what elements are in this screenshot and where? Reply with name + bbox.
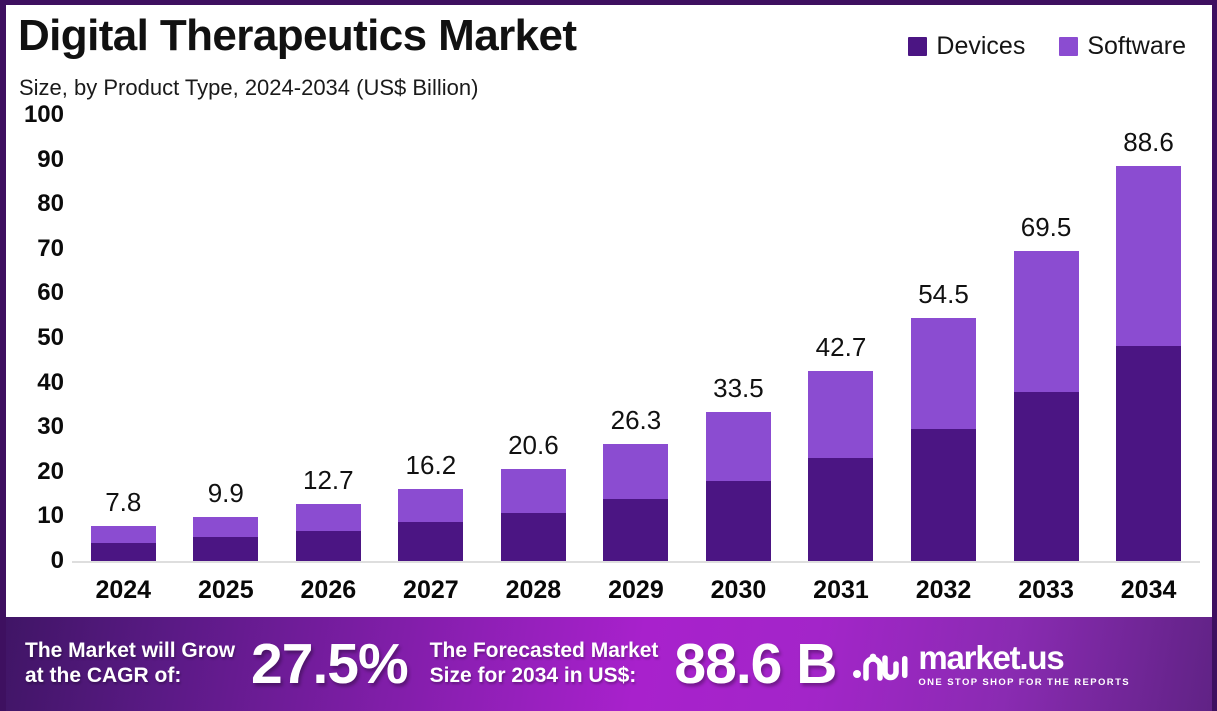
- bar-value-label: 20.6: [482, 430, 584, 461]
- chart-legend: Devices Software: [908, 32, 1186, 61]
- x-axis-tick: 2029: [585, 576, 687, 605]
- x-axis-tick: 2028: [482, 576, 584, 605]
- bar-stack[interactable]: [398, 489, 463, 561]
- bar-stack[interactable]: [1116, 166, 1181, 561]
- x-axis-tick: 2025: [175, 576, 277, 605]
- x-axis-baseline: [72, 561, 1200, 563]
- bar-segment-software[interactable]: [296, 504, 361, 530]
- bar-column[interactable]: 42.7: [790, 115, 892, 561]
- bar-value-label: 42.7: [790, 332, 892, 363]
- chart-plot-area: 1009080706050403020100 7.89.912.716.220.…: [6, 115, 1217, 622]
- bar-segment-software[interactable]: [603, 444, 668, 499]
- market-us-logo-mark-icon: [852, 644, 912, 684]
- bar-segment-devices[interactable]: [91, 543, 156, 561]
- y-axis: 1009080706050403020100: [6, 115, 72, 561]
- bar-segment-software[interactable]: [398, 489, 463, 522]
- y-axis-tick: 30: [37, 413, 64, 441]
- bar-column[interactable]: 54.5: [893, 115, 995, 561]
- bar-value-label: 16.2: [380, 450, 482, 481]
- bar-segment-devices[interactable]: [1014, 392, 1079, 561]
- infographic-root: Digital Therapeutics Market Size, by Pro…: [0, 0, 1217, 711]
- bar-stack[interactable]: [808, 371, 873, 561]
- legend-item-devices[interactable]: Devices: [908, 32, 1025, 61]
- chart-header: Digital Therapeutics Market Size, by Pro…: [6, 5, 1212, 115]
- bar-stack[interactable]: [911, 318, 976, 561]
- bar-segment-devices[interactable]: [501, 513, 566, 561]
- bar-segment-software[interactable]: [1014, 251, 1079, 392]
- bar-value-label: 9.9: [175, 478, 277, 509]
- bar-segment-software[interactable]: [706, 412, 771, 481]
- bar-segment-devices[interactable]: [706, 481, 771, 561]
- y-axis-tick: 20: [37, 458, 64, 486]
- footer-banner: The Market will Grow at the CAGR of: 27.…: [6, 617, 1217, 711]
- page-title: Digital Therapeutics Market: [18, 11, 576, 61]
- bar-column[interactable]: 88.6: [1098, 115, 1200, 561]
- y-axis-tick: 40: [37, 369, 64, 397]
- logo-wordmark: market.us: [918, 641, 1130, 674]
- bar-value-label: 26.3: [585, 405, 687, 436]
- forecast-value: 88.6 B: [674, 631, 836, 697]
- bar-stack[interactable]: [501, 469, 566, 561]
- legend-label-devices: Devices: [936, 32, 1025, 61]
- bar-value-label: 12.7: [277, 465, 379, 496]
- bar-column[interactable]: 16.2: [380, 115, 482, 561]
- y-axis-tick: 80: [37, 190, 64, 218]
- cagr-value: 27.5%: [251, 631, 408, 697]
- market-us-logo-text: market.us ONE STOP SHOP FOR THE REPORTS: [918, 641, 1130, 688]
- bar-column[interactable]: 69.5: [995, 115, 1097, 561]
- bar-column[interactable]: 12.7: [277, 115, 379, 561]
- bar-segment-software[interactable]: [501, 469, 566, 513]
- bar-segment-software[interactable]: [1116, 166, 1181, 346]
- bar-stack[interactable]: [603, 444, 668, 561]
- forecast-block: The Forecasted Market Size for 2034 in U…: [430, 631, 837, 697]
- bar-segment-devices[interactable]: [911, 429, 976, 561]
- bar-stack[interactable]: [91, 526, 156, 561]
- bar-segment-devices[interactable]: [296, 531, 361, 561]
- cagr-block: The Market will Grow at the CAGR of: 27.…: [25, 631, 408, 697]
- x-axis-tick: 2034: [1098, 576, 1200, 605]
- bar-column[interactable]: 9.9: [175, 115, 277, 561]
- bar-value-label: 69.5: [995, 212, 1097, 243]
- bar-column[interactable]: 33.5: [687, 115, 789, 561]
- bar-stack[interactable]: [296, 504, 361, 561]
- y-axis-tick: 70: [37, 235, 64, 263]
- bar-column[interactable]: 20.6: [482, 115, 584, 561]
- forecast-caption: The Forecasted Market Size for 2034 in U…: [430, 639, 659, 689]
- page-subtitle: Size, by Product Type, 2024-2034 (US$ Bi…: [19, 75, 478, 101]
- bar-segment-devices[interactable]: [1116, 346, 1181, 561]
- x-axis-tick: 2031: [790, 576, 892, 605]
- y-axis-tick: 50: [37, 324, 64, 352]
- x-axis-tick: 2027: [380, 576, 482, 605]
- market-us-logo[interactable]: market.us ONE STOP SHOP FOR THE REPORTS: [852, 641, 1130, 688]
- bar-segment-software[interactable]: [91, 526, 156, 543]
- y-axis-tick: 100: [24, 101, 64, 129]
- y-axis-tick: 0: [51, 547, 64, 575]
- x-axis-tick: 2024: [72, 576, 174, 605]
- legend-label-software: Software: [1087, 32, 1186, 61]
- square-swatch-icon: [1059, 37, 1078, 56]
- legend-item-software[interactable]: Software: [1059, 32, 1186, 61]
- bar-value-label: 33.5: [687, 373, 789, 404]
- x-axis-tick: 2033: [995, 576, 1097, 605]
- bar-stack[interactable]: [706, 412, 771, 561]
- x-axis-tick: 2030: [687, 576, 789, 605]
- bar-stack[interactable]: [1014, 251, 1079, 561]
- bar-value-label: 54.5: [893, 279, 995, 310]
- x-axis-tick: 2026: [277, 576, 379, 605]
- bar-segment-software[interactable]: [193, 517, 258, 538]
- bar-segment-software[interactable]: [808, 371, 873, 458]
- square-swatch-icon: [908, 37, 927, 56]
- bar-column[interactable]: 7.8: [72, 115, 174, 561]
- bar-segment-devices[interactable]: [193, 537, 258, 561]
- bar-segment-devices[interactable]: [808, 458, 873, 561]
- bar-series-container: 7.89.912.716.220.626.333.542.754.569.588…: [72, 115, 1200, 561]
- bar-segment-devices[interactable]: [398, 522, 463, 561]
- x-axis: 2024202520262027202820292030203120322033…: [72, 567, 1200, 613]
- bar-column[interactable]: 26.3: [585, 115, 687, 561]
- x-axis-tick: 2032: [893, 576, 995, 605]
- bar-segment-software[interactable]: [911, 318, 976, 429]
- bar-value-label: 7.8: [72, 487, 174, 518]
- bar-value-label: 88.6: [1098, 127, 1200, 158]
- logo-tagline: ONE STOP SHOP FOR THE REPORTS: [918, 677, 1130, 688]
- y-axis-tick: 90: [37, 146, 64, 174]
- cagr-caption: The Market will Grow at the CAGR of:: [25, 639, 235, 689]
- y-axis-tick: 10: [37, 502, 64, 530]
- bar-segment-devices[interactable]: [603, 499, 668, 561]
- y-axis-tick: 60: [37, 279, 64, 307]
- bar-stack[interactable]: [193, 517, 258, 561]
